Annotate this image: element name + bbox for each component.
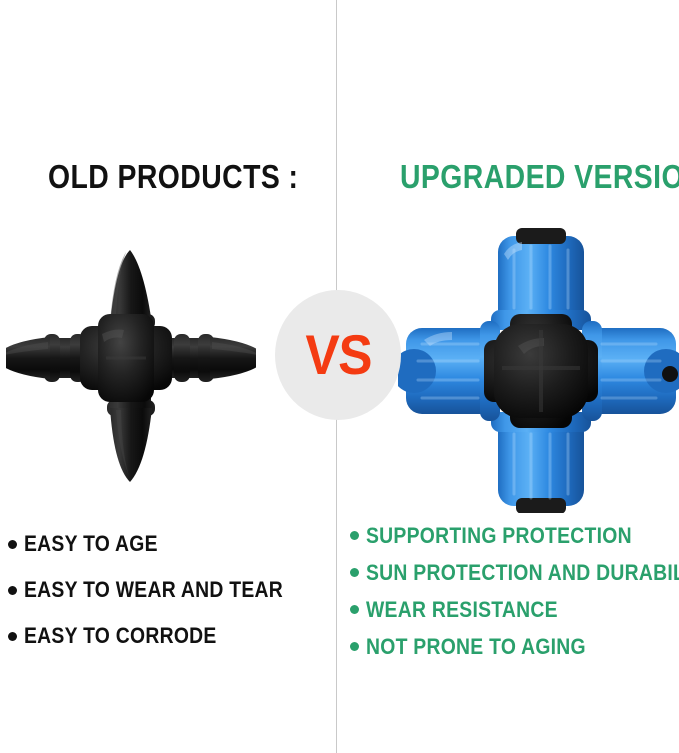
bullet-dot-icon	[350, 642, 359, 651]
bullet-dot-icon	[8, 540, 17, 549]
bullet-dot-icon	[350, 568, 359, 577]
list-item: EASY TO WEAR AND TEAR	[8, 567, 308, 613]
list-item-label: EASY TO WEAR AND TEAR	[24, 579, 283, 601]
list-item-label: NOT PRONE TO AGING	[366, 636, 586, 658]
list-item: SUPPORTING PROTECTION	[350, 517, 679, 554]
vs-label: VS	[304, 327, 373, 383]
bullet-dot-icon	[350, 605, 359, 614]
list-item-label: WEAR RESISTANCE	[366, 599, 558, 621]
list-item-label: SUN PROTECTION AND DURABILITY	[366, 562, 679, 584]
bullet-dot-icon	[8, 586, 17, 595]
list-item-label: EASY TO CORRODE	[24, 625, 217, 647]
old-product-drawback-list: EASY TO AGE EASY TO WEAR AND TEAR EASY T…	[8, 521, 308, 659]
list-item: WEAR RESISTANCE	[350, 591, 679, 628]
list-item: EASY TO CORRODE	[8, 613, 308, 659]
vs-badge: VS	[275, 290, 401, 420]
list-item: NOT PRONE TO AGING	[350, 628, 679, 665]
connector-core	[484, 314, 598, 428]
old-products-heading: OLD PRODUCTS :	[48, 160, 298, 193]
list-item: SUN PROTECTION AND DURABILITY	[350, 554, 679, 591]
upgraded-product-benefit-list: SUPPORTING PROTECTION SUN PROTECTION AND…	[350, 517, 679, 665]
old-product-image	[6, 238, 256, 493]
upgraded-product-image	[398, 228, 679, 513]
product-comparison-page: OLD PRODUCTS :	[0, 0, 679, 753]
bullet-dot-icon	[8, 632, 17, 641]
list-item-label: SUPPORTING PROTECTION	[366, 525, 632, 547]
list-item: EASY TO AGE	[8, 521, 308, 567]
bullet-dot-icon	[350, 531, 359, 540]
list-item-label: EASY TO AGE	[24, 533, 158, 555]
connector-hub	[80, 314, 172, 402]
upgraded-version-heading: UPGRADED VERSION:	[400, 160, 679, 193]
